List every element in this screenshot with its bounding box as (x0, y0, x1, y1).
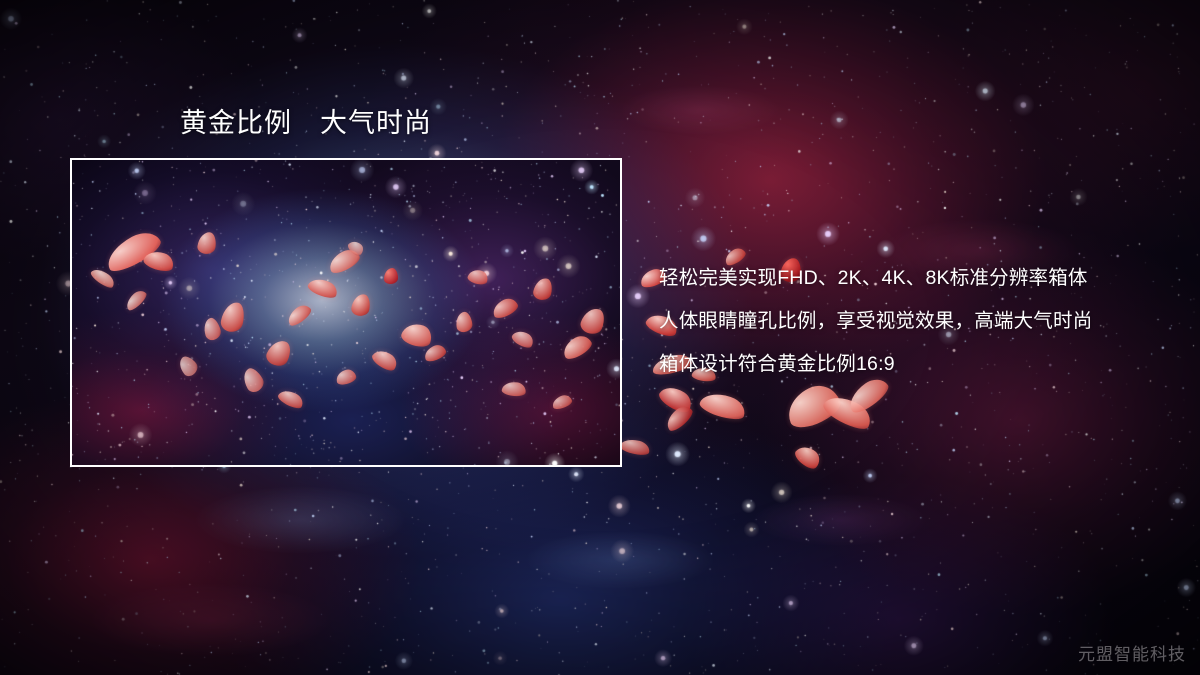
petal (350, 293, 372, 318)
petal (89, 266, 117, 291)
petal (284, 302, 313, 329)
petal (264, 337, 295, 370)
petal (501, 380, 527, 397)
petal (326, 246, 363, 276)
petal (306, 275, 340, 301)
petal (370, 346, 401, 374)
image-panel-frame (70, 158, 622, 467)
petal (792, 442, 823, 473)
petal (551, 393, 574, 411)
panel-floating-petals (72, 160, 620, 465)
petal (175, 353, 200, 379)
petal (698, 388, 749, 423)
petal (466, 268, 489, 287)
petal (656, 382, 695, 417)
petal (201, 316, 222, 342)
petal (276, 387, 306, 412)
body-line-1: 轻松完美实现FHD、2K、4K、8K标准分辨率箱体 (659, 257, 1092, 300)
petal (560, 332, 595, 362)
petal (399, 320, 434, 350)
petal (335, 368, 358, 386)
petal (490, 295, 520, 320)
petal (197, 231, 218, 255)
page-title: 黄金比例 大气时尚 (180, 101, 432, 140)
petal (578, 305, 608, 337)
presentation-slide: 黄金比例 大气时尚 轻松完美实现FHD、2K、4K、8K标准分辨率箱体 人体眼睛… (0, 0, 1200, 675)
petal (532, 276, 554, 301)
petal (239, 365, 267, 395)
petal (422, 343, 447, 364)
petal (781, 379, 845, 433)
petal (219, 300, 247, 334)
body-text-block: 轻松完美实现FHD、2K、4K、8K标准分辨率箱体 人体眼睛瞳孔比例，享受视觉效… (659, 257, 1092, 386)
petal (142, 248, 176, 274)
petal (455, 311, 474, 333)
petal (510, 327, 536, 350)
petal (619, 437, 651, 458)
petal (123, 288, 149, 313)
petal (384, 268, 398, 284)
petal (101, 226, 164, 276)
petal (820, 390, 875, 435)
body-line-2: 人体眼睛瞳孔比例，享受视觉效果，高端大气时尚 (659, 300, 1092, 343)
watermark-label: 元盟智能科技 (1078, 640, 1186, 665)
petal (662, 402, 695, 434)
body-line-3: 箱体设计符合黄金比例16:9 (659, 343, 1092, 386)
petal (346, 238, 366, 258)
